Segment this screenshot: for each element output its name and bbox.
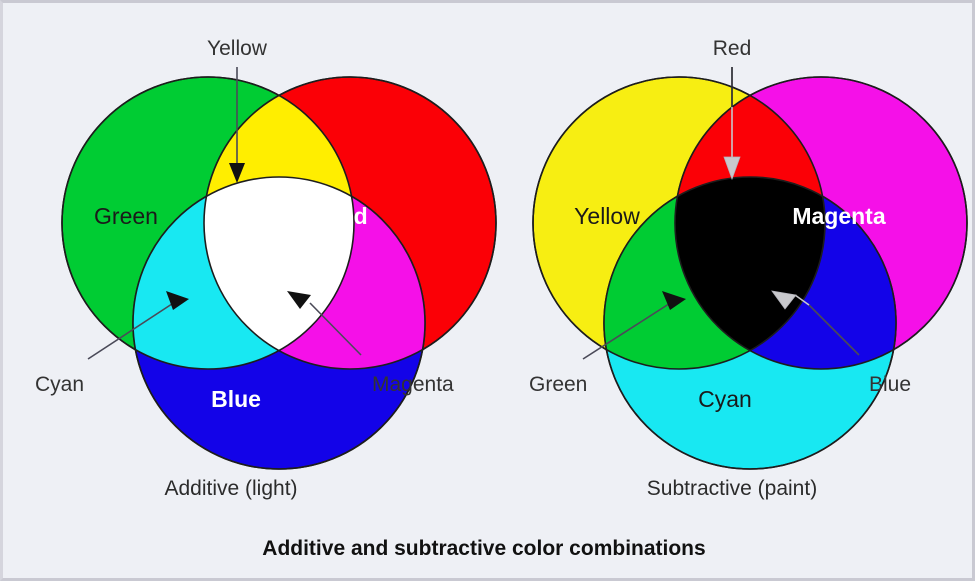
subtractive-label-yellow: Yellow — [574, 203, 640, 229]
subtractive-caption: Subtractive (paint) — [647, 477, 817, 500]
additive-caption: Additive (light) — [164, 477, 297, 500]
venn-diagram-svg: Green Red Blue Yellow Cyan Magenta Addit… — [3, 3, 972, 578]
additive-callout-cyan: Cyan — [35, 373, 84, 396]
figure-canvas: Green Red Blue Yellow Cyan Magenta Addit… — [3, 3, 972, 578]
subtractive-label-magenta: Magenta — [792, 203, 886, 229]
diagram-additive: Green Red Blue Yellow Cyan Magenta Addit… — [35, 37, 496, 500]
diagram-subtractive: Yellow Magenta Cyan Red Green Blue Subtr… — [529, 37, 967, 500]
subtractive-callout-blue: Blue — [869, 373, 911, 396]
additive-label-blue: Blue — [211, 386, 261, 412]
subtractive-callout-green: Green — [529, 373, 587, 396]
additive-label-red: Red — [324, 203, 367, 229]
additive-callout-yellow: Yellow — [207, 37, 268, 60]
subtractive-callout-red: Red — [713, 37, 752, 60]
additive-label-green: Green — [94, 203, 158, 229]
figure-title: Additive and subtractive color combinati… — [262, 537, 705, 560]
subtractive-label-cyan: Cyan — [698, 386, 752, 412]
additive-callout-magenta: Magenta — [372, 373, 454, 396]
image-frame: Green Red Blue Yellow Cyan Magenta Addit… — [0, 0, 975, 581]
